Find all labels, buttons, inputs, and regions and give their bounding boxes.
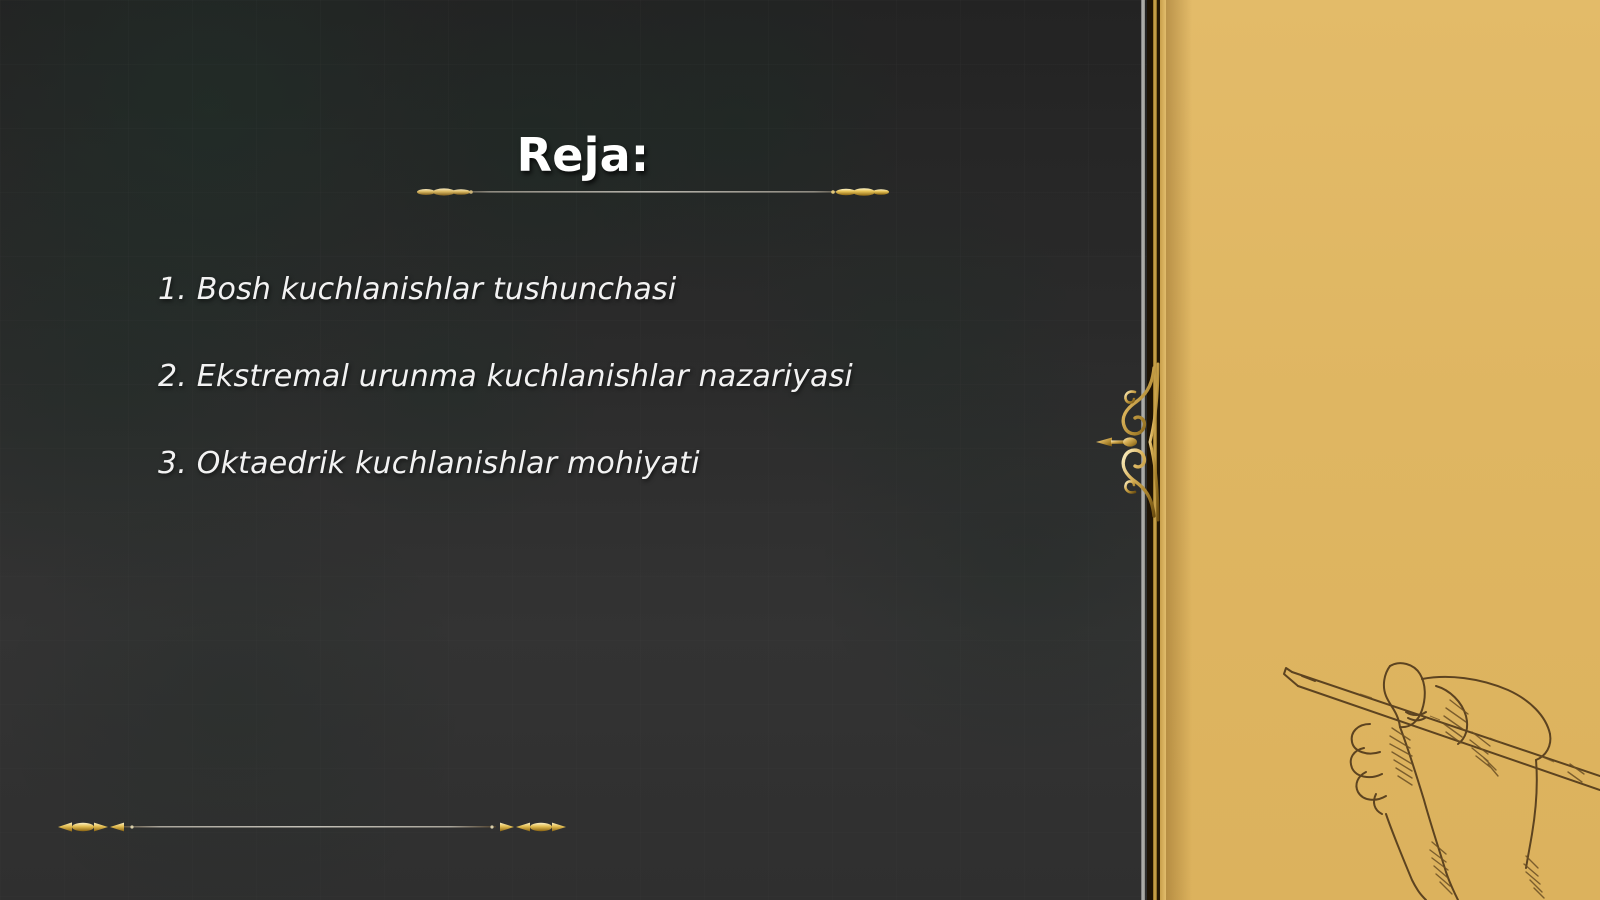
- bottom-divider-ornament: [52, 818, 572, 836]
- agenda-list: 1. Bosh kuchlanishlar tushunchasi 2. Eks…: [158, 272, 1058, 481]
- gold-filigree-ornament: [1092, 362, 1170, 522]
- list-item: 3. Oktaedrik kuchlanishlar mohiyati: [158, 446, 1058, 481]
- list-item: 1. Bosh kuchlanishlar tushunchasi: [158, 272, 1058, 307]
- list-item: 2. Ekstremal urunma kuchlanishlar nazari…: [158, 359, 1058, 394]
- hand-with-pencil-illustration: [1240, 624, 1600, 900]
- title-divider-ornament: [414, 183, 890, 201]
- page-title: Reja:: [0, 128, 1166, 182]
- slide-canvas: Reja:: [0, 0, 1600, 900]
